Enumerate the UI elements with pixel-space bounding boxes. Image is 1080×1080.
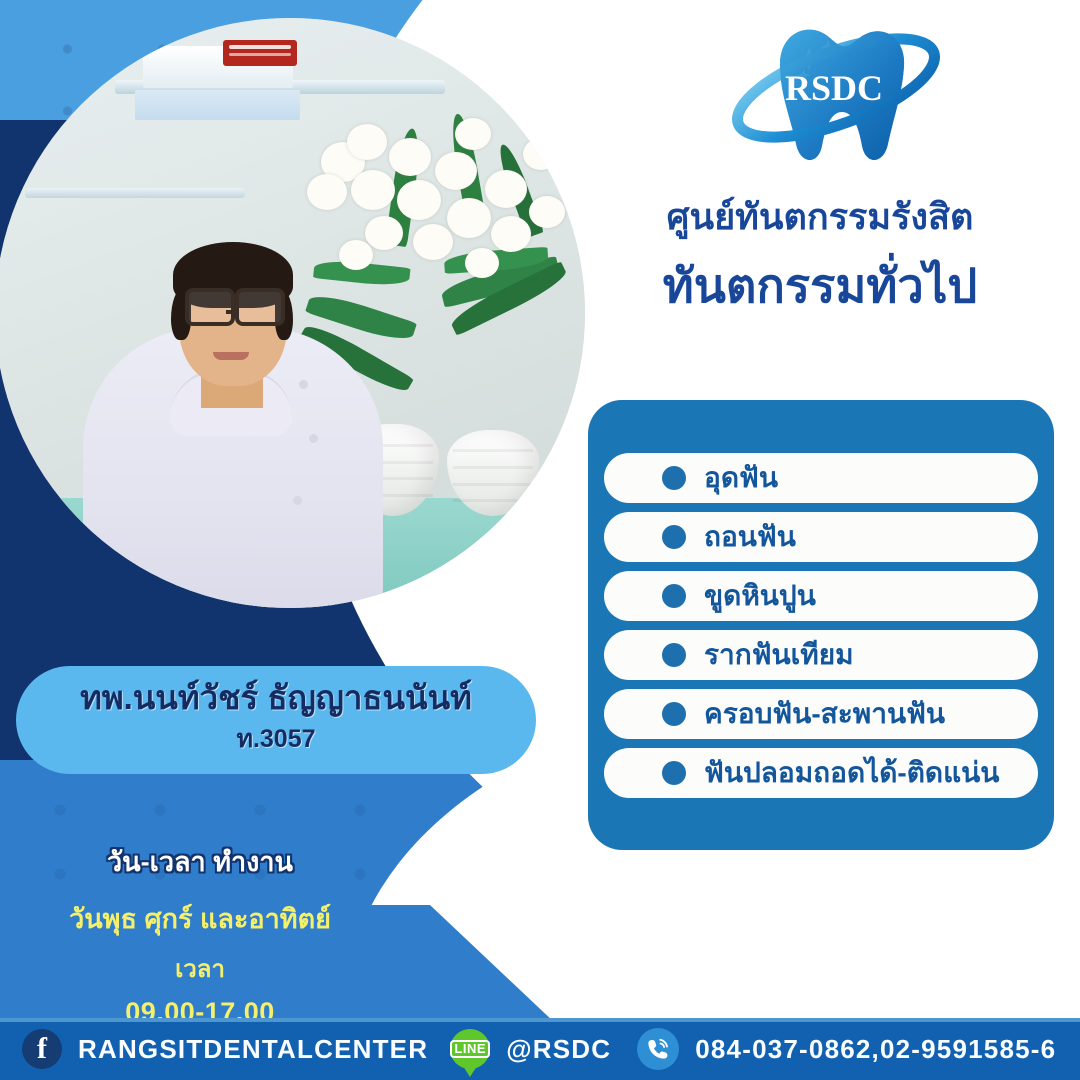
clinic-name: ศูนย์ทันตกรรมรังสิต <box>560 188 1080 245</box>
phone-number[interactable]: 084-037-0862,02-9591585-6 <box>695 1034 1056 1065</box>
doctor-photo <box>0 18 585 608</box>
eyeglasses-right-lens <box>235 288 285 326</box>
doctor-license: ท.3057 <box>236 719 315 759</box>
working-hours: วัน-เวลา ทำงาน วันพุธ ศุกร์ และอาทิตย์ เ… <box>0 840 400 1028</box>
service-item[interactable]: อุดฟัน <box>604 453 1038 503</box>
bullet-icon <box>662 643 686 667</box>
rsdc-logo: RSDC <box>718 12 946 192</box>
hours-title: วัน-เวลา ทำงาน <box>0 840 400 883</box>
footer-divider <box>0 1018 1080 1022</box>
service-item[interactable]: รากฟันเทียม <box>604 630 1038 680</box>
bullet-icon <box>662 702 686 726</box>
bullet-icon <box>662 466 686 490</box>
facebook-icon[interactable]: f <box>22 1029 62 1069</box>
service-label: รากฟันเทียม <box>704 633 854 677</box>
hours-days: วันพุธ ศุกร์ และอาทิตย์ <box>0 897 400 940</box>
bullet-icon <box>662 584 686 608</box>
doctor-name: ทพ.นนท์วัชร์ ธัญญาธนนันท์ <box>80 681 472 716</box>
poster-root: RSDC ศูนย์ทันตกรรมรังสิต ทันตกรรมทั่วไป … <box>0 0 1080 1080</box>
service-label: อุดฟัน <box>704 456 778 500</box>
service-label: ฟันปลอมถอดได้-ติดแน่น <box>704 751 999 795</box>
facebook-name[interactable]: RANGSITDENTALCENTER <box>78 1034 428 1065</box>
services-panel: อุดฟัน ถอนฟัน ขูดหินปูน รากฟันเทียม ครอบ… <box>588 400 1054 850</box>
line-icon[interactable]: LINE <box>450 1029 490 1069</box>
page-headline: ทันตกรรมทั่วไป <box>560 248 1080 323</box>
clinic-sign <box>223 40 297 66</box>
line-id[interactable]: @RSDC <box>506 1034 611 1065</box>
service-label: ขูดหินปูน <box>704 574 816 618</box>
service-item[interactable]: ถอนฟัน <box>604 512 1038 562</box>
doctor-name-banner: ทพ.นนท์วัชร์ ธัญญาธนนันท์ ท.3057 <box>16 666 536 774</box>
eyeglasses-left-lens <box>185 288 235 326</box>
hours-time-label: เวลา <box>0 949 400 988</box>
service-label: ถอนฟัน <box>704 515 796 559</box>
service-item[interactable]: ขูดหินปูน <box>604 571 1038 621</box>
svg-text:RSDC: RSDC <box>785 68 883 108</box>
service-label: ครอบฟัน-สะพานฟัน <box>704 692 945 736</box>
bullet-icon <box>662 525 686 549</box>
bullet-icon <box>662 761 686 785</box>
service-item[interactable]: ฟันปลอมถอดได้-ติดแน่น <box>604 748 1038 798</box>
service-item[interactable]: ครอบฟัน-สะพานฟัน <box>604 689 1038 739</box>
contact-footer: f RANGSITDENTALCENTER LINE @RSDC 084-037… <box>0 1018 1080 1080</box>
line-icon-label: LINE <box>450 1040 490 1059</box>
phone-ring-icon <box>637 1028 679 1070</box>
